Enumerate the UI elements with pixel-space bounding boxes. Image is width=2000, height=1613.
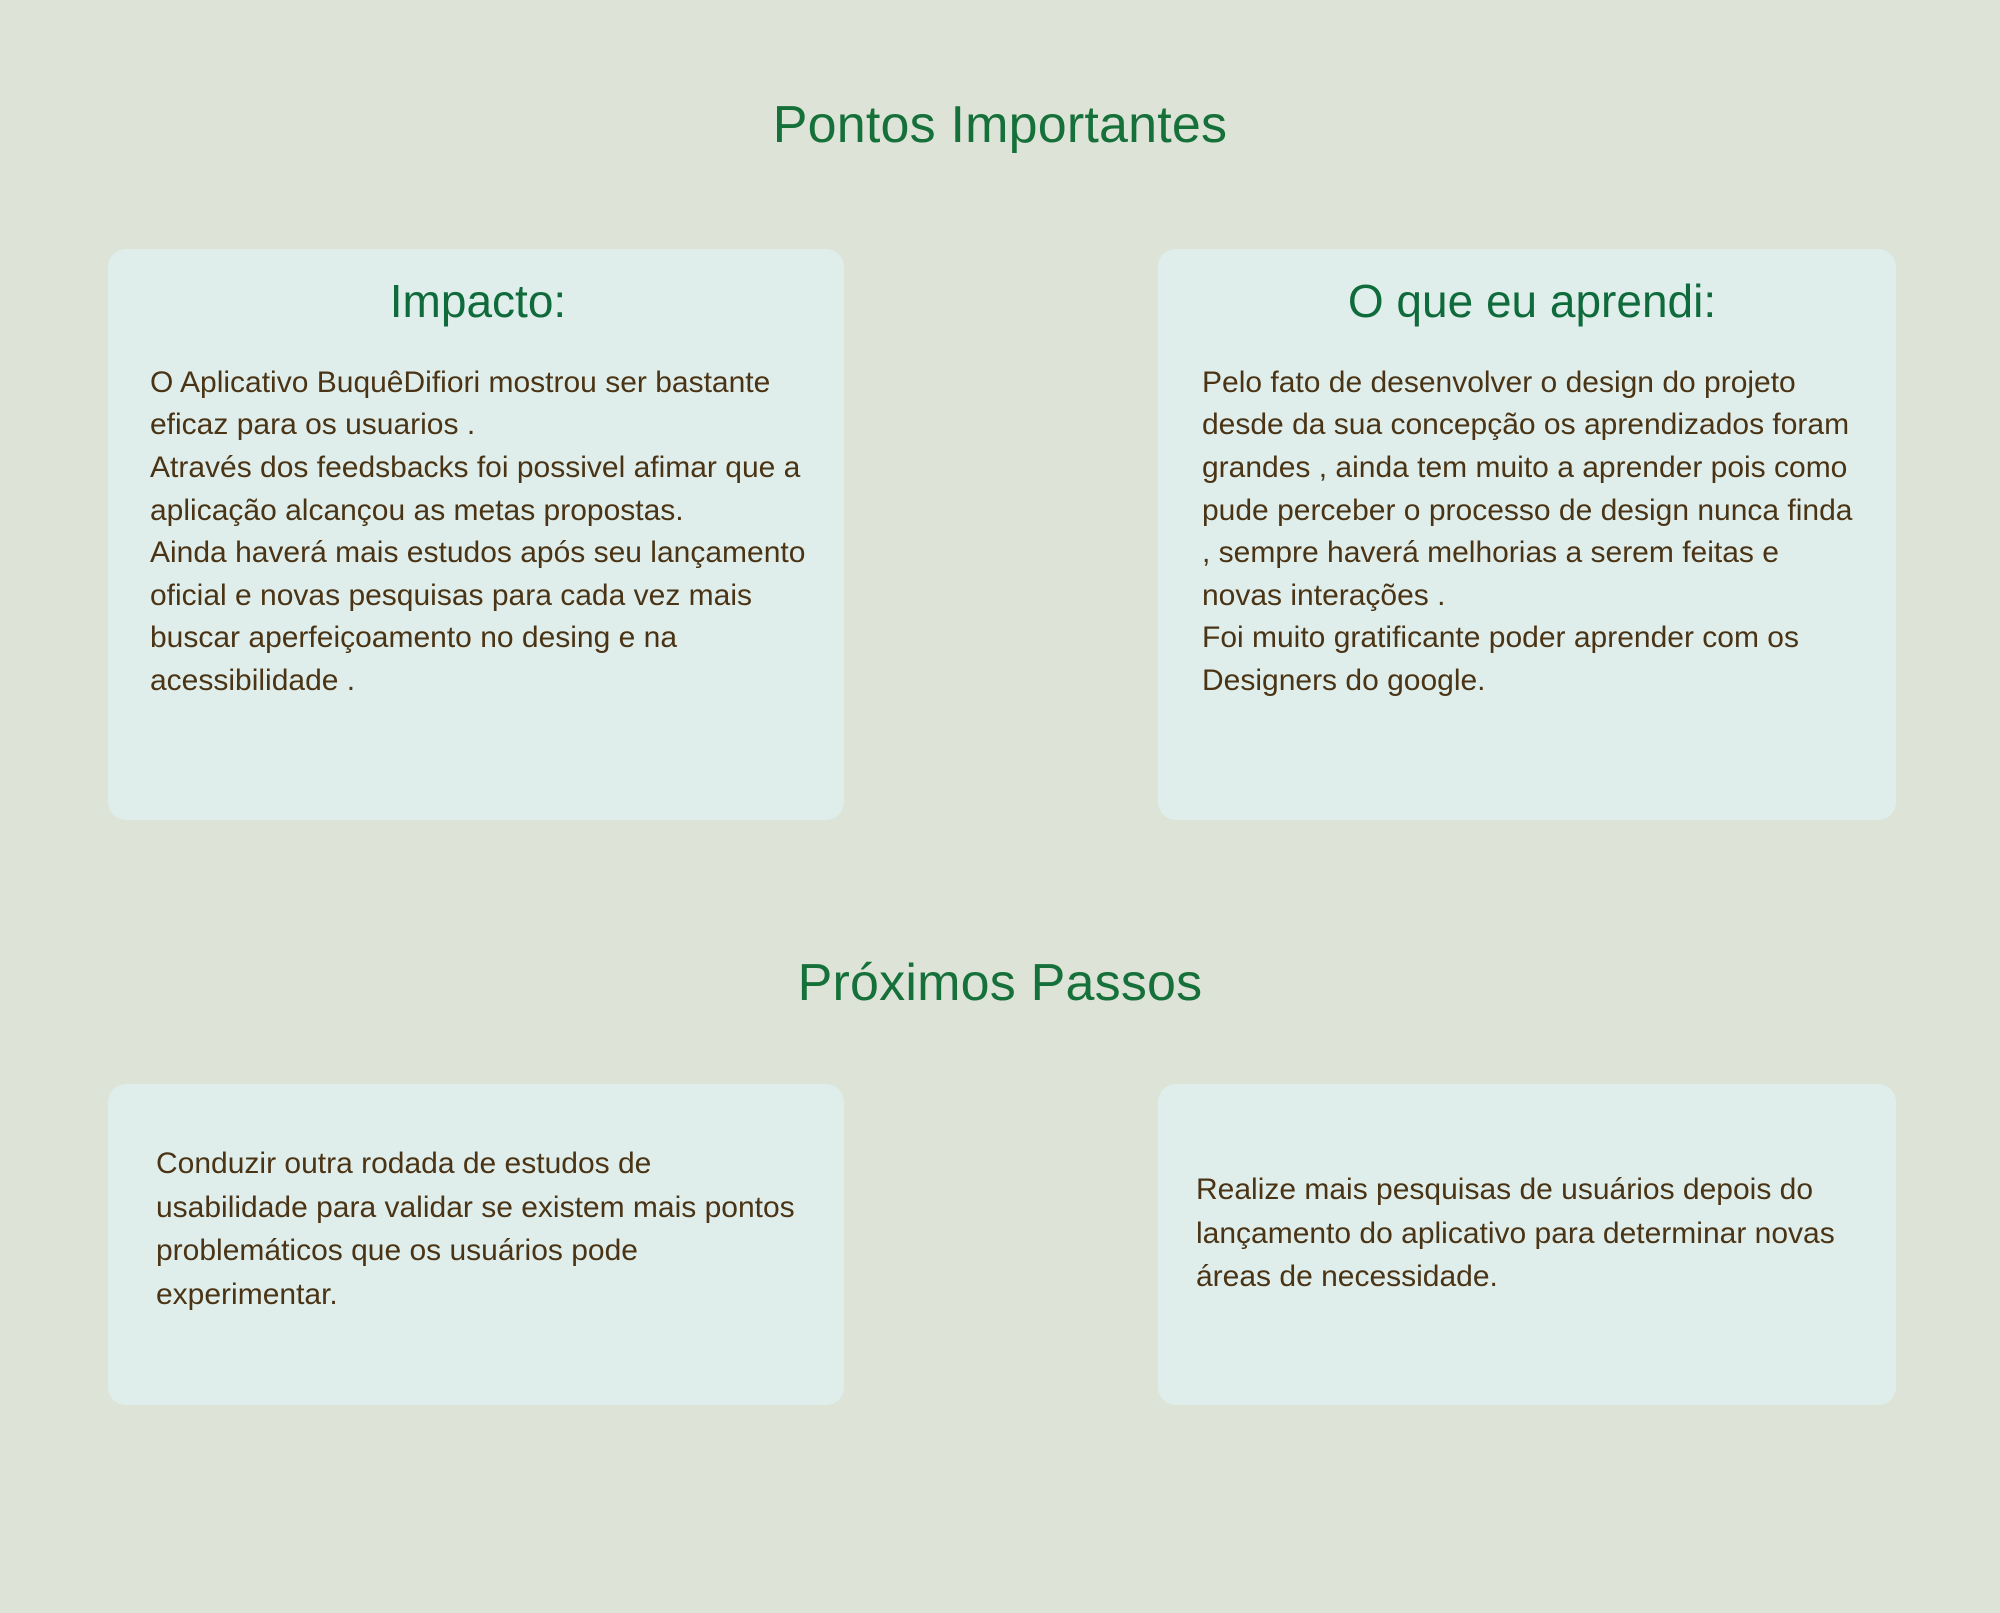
- card-impacto-title: Impacto:: [150, 275, 806, 328]
- card-impacto-body: O Aplicativo BuquêDifiori mostrou ser ba…: [150, 362, 806, 703]
- card-impacto: Impacto: O Aplicativo BuquêDifiori mostr…: [108, 249, 844, 820]
- card-o-que-eu-aprendi: O que eu aprendi: Pelo fato de desenvolv…: [1158, 249, 1896, 820]
- card-o-que-eu-aprendi-body: Pelo fato de desenvolver o design do pro…: [1202, 362, 1862, 703]
- card-proximo-passo-1: Conduzir outra rodada de estudos de usab…: [108, 1084, 844, 1405]
- section-heading-proximos-passos: Próximos Passos: [0, 955, 2000, 1012]
- card-proximo-passo-2: Realize mais pesquisas de usuários depoi…: [1158, 1084, 1896, 1405]
- slide-canvas: Pontos Importantes Impacto: O Aplicativo…: [0, 0, 2000, 1613]
- card-proximo-passo-2-body: Realize mais pesquisas de usuários depoi…: [1196, 1168, 1856, 1299]
- card-o-que-eu-aprendi-title: O que eu aprendi:: [1202, 275, 1862, 328]
- card-proximo-passo-1-body: Conduzir outra rodada de estudos de usab…: [156, 1142, 804, 1316]
- section-heading-pontos-importantes: Pontos Importantes: [0, 97, 2000, 154]
